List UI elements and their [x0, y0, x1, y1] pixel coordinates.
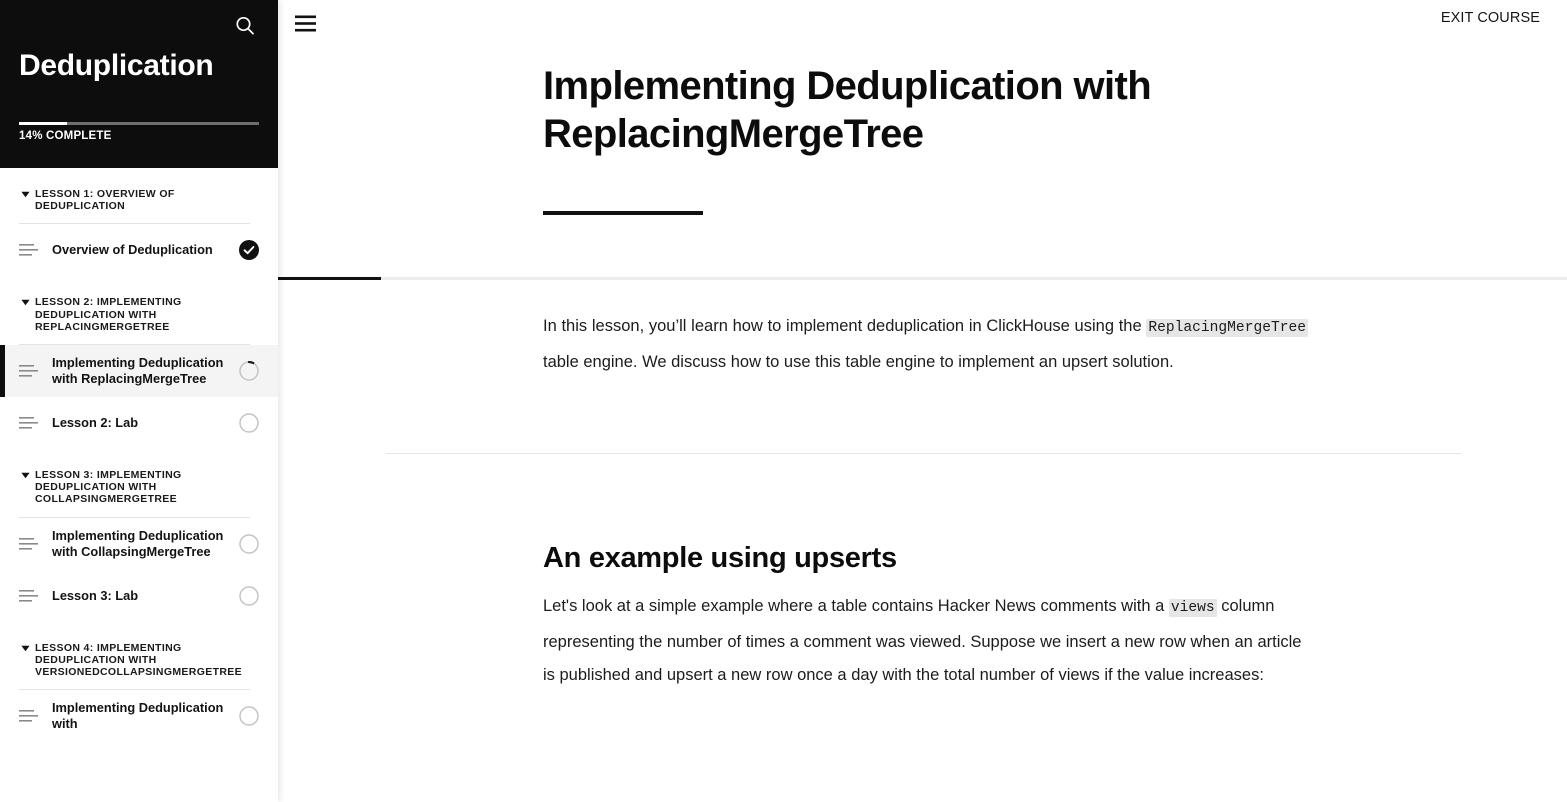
sidebar-item-label: Implementing Deduplication with Replacin… — [52, 355, 239, 387]
sidebar-item-implementing-deduplication-with-replacingmergetree[interactable]: Implementing Deduplication with Replacin… — [0, 345, 278, 397]
lesson-header: Implementing Deduplication with Replacin… — [278, 46, 1567, 215]
sidebar-item-lesson-2-lab[interactable]: Lesson 2: Lab — [0, 397, 278, 449]
lesson-group-header-lesson-4[interactable]: LESSON 4: IMPLEMENTING DEDUPLICATION WIT… — [0, 622, 278, 679]
sidebar-item-label: Implementing Deduplication with Collapsi… — [52, 528, 239, 560]
sidebar-item-overview-of-deduplication[interactable]: Overview of Deduplication — [0, 224, 278, 276]
empty-circle-icon — [239, 534, 259, 554]
topic-lines-icon — [19, 243, 39, 257]
upserts-paragraph: Let's look at a simple example where a t… — [543, 590, 1308, 693]
topic-lines-icon — [19, 589, 39, 603]
caret-down-icon — [21, 299, 30, 306]
exit-course-button[interactable]: EXIT COURSE — [1441, 10, 1540, 26]
upserts-block: An example using upserts Let's look at a… — [543, 510, 1308, 693]
course-progress-fill — [19, 122, 67, 125]
lesson-group-label: LESSON 4: IMPLEMENTING DEDUPLICATION WIT… — [35, 642, 252, 679]
course-title: Deduplication — [19, 48, 213, 84]
lesson-group-label: LESSON 2: IMPLEMENTING DEDUPLICATION WIT… — [35, 296, 252, 333]
caret-down-icon — [21, 191, 30, 198]
inline-code-views: views — [1169, 599, 1217, 617]
sidebar-header: Deduplication 14% COMPLETE — [0, 0, 278, 168]
progress-circle-icon — [239, 361, 259, 381]
intro-block: In this lesson, you’ll learn how to impl… — [543, 280, 1308, 379]
caret-down-icon — [21, 645, 30, 652]
lesson-group-label: LESSON 3: IMPLEMENTING DEDUPLICATION WIT… — [35, 469, 252, 506]
sidebar-item-lesson-3-lab[interactable]: Lesson 3: Lab — [0, 570, 278, 622]
search-icon[interactable] — [231, 12, 259, 40]
topic-lines-icon — [19, 709, 39, 723]
spacer — [278, 454, 1567, 510]
lesson-group-header-lesson-2[interactable]: LESSON 2: IMPLEMENTING DEDUPLICATION WIT… — [0, 276, 278, 333]
lesson-group-label: LESSON 1: OVERVIEW OF DEDUPLICATION — [35, 188, 252, 212]
sidebar-item-implementing-deduplication-with-collapsingmergetree[interactable]: Implementing Deduplication with Collapsi… — [0, 518, 278, 570]
topic-lines-icon — [19, 537, 39, 551]
sidebar-item-label: Overview of Deduplication — [52, 242, 239, 258]
inline-code-replacingmergetree: ReplacingMergeTree — [1146, 319, 1308, 337]
course-progress-label: 14% COMPLETE — [19, 130, 112, 142]
lesson-group-header-lesson-1[interactable]: LESSON 1: OVERVIEW OF DEDUPLICATION — [0, 168, 278, 212]
caret-down-icon — [21, 472, 30, 479]
section-heading-upserts: An example using upserts — [543, 540, 1308, 576]
lesson-group-header-lesson-3[interactable]: LESSON 3: IMPLEMENTING DEDUPLICATION WIT… — [0, 449, 278, 506]
course-sidebar: Deduplication 14% COMPLETE LESSON 1: OVE… — [0, 0, 278, 802]
top-bar: EXIT COURSE — [278, 0, 1567, 46]
upserts-text-1: Let's look at a simple example where a t… — [543, 597, 1169, 615]
sidebar-item-label: Lesson 3: Lab — [52, 588, 239, 604]
hamburger-menu-icon[interactable] — [295, 10, 323, 36]
intro-paragraph: In this lesson, you’ll learn how to impl… — [543, 310, 1308, 379]
page-title: Implementing Deduplication with Replacin… — [543, 62, 1243, 158]
sidebar-item-label: Implementing Deduplication with — [52, 700, 239, 732]
empty-circle-icon — [239, 413, 259, 433]
intro-text-2: table engine. We discuss how to use this… — [543, 353, 1174, 371]
lesson-main: EXIT COURSE Implementing Deduplication w… — [278, 0, 1567, 802]
intro-text-1: In this lesson, you’ll learn how to impl… — [543, 317, 1146, 335]
topic-lines-icon — [19, 416, 39, 430]
lesson-content: In this lesson, you’ll learn how to impl… — [278, 280, 1567, 802]
title-underline — [543, 211, 703, 215]
topic-lines-icon — [19, 364, 39, 378]
empty-circle-icon — [239, 706, 259, 726]
lesson-list[interactable]: LESSON 1: OVERVIEW OF DEDUPLICATIONOverv… — [0, 168, 278, 802]
course-progress-bar — [19, 122, 259, 125]
sidebar-item-implementing-deduplication-with-versionedcollapsingmergetree[interactable]: Implementing Deduplication with — [0, 690, 278, 742]
course-player: Deduplication 14% COMPLETE LESSON 1: OVE… — [0, 0, 1567, 802]
sidebar-item-label: Lesson 2: Lab — [52, 415, 239, 431]
check-circle-icon — [239, 240, 259, 260]
empty-circle-icon — [239, 586, 259, 606]
